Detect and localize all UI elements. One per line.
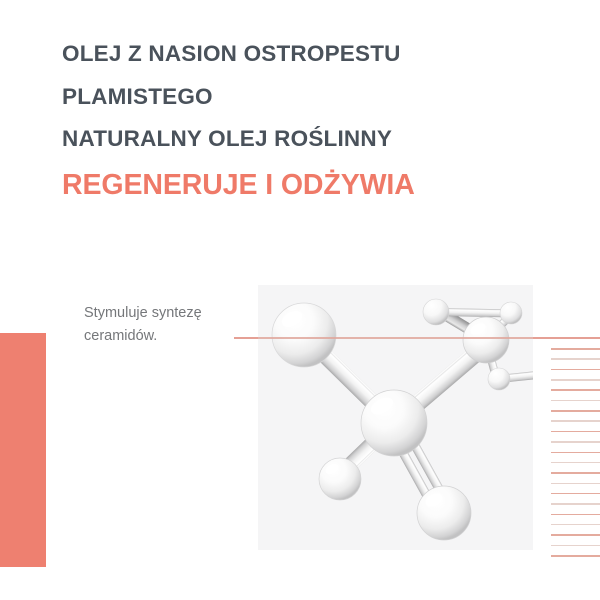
atom-right-small <box>488 368 510 390</box>
hatch-line <box>551 555 600 557</box>
headline-line-1: OLEJ Z NASION OSTROPESTU <box>62 33 532 76</box>
atom-lower-right-medium <box>417 486 471 540</box>
hatch-line <box>551 410 600 412</box>
poster-canvas: OLEJ Z NASION OSTROPESTU PLAMISTEGO NATU… <box>0 0 600 600</box>
hatch-line <box>551 431 600 433</box>
hatch-line <box>551 369 600 371</box>
hatch-line <box>551 534 600 536</box>
atom-center-large <box>361 390 427 456</box>
caption-block: Stymuluje syntezę ceramidów. <box>84 302 244 348</box>
hatch-line <box>551 379 600 381</box>
headline-line-2: PLAMISTEGO <box>62 76 532 119</box>
headline-block: OLEJ Z NASION OSTROPESTU PLAMISTEGO NATU… <box>62 33 532 209</box>
hatch-line <box>551 348 600 350</box>
hatch-line <box>551 452 600 454</box>
atom-upper-small-right <box>500 302 522 324</box>
hatch-line-group <box>551 348 600 563</box>
caption-line-2: ceramidów. <box>84 325 244 348</box>
headline-line-3: NATURALNY OLEJ ROŚLINNY <box>62 118 532 161</box>
molecule-illustration <box>258 285 533 550</box>
connector-rule-overlay <box>258 337 533 339</box>
molecule-atoms <box>272 299 522 540</box>
atom-upper-small-left <box>423 299 449 325</box>
hatch-line <box>551 524 600 526</box>
hatch-line <box>551 420 600 422</box>
hatch-line <box>551 389 600 391</box>
hatch-line <box>551 462 600 464</box>
hatch-line <box>551 400 600 402</box>
headline-line-4-accent: REGENERUJE I ODŻYWIA <box>62 161 532 209</box>
hatch-line <box>551 514 600 516</box>
caption-line-1: Stymuluje syntezę <box>84 302 244 325</box>
atom-upper-right-medium <box>463 317 509 363</box>
hatch-line <box>551 545 600 547</box>
atom-lower-left-medium <box>319 458 361 500</box>
hatch-line <box>551 358 600 360</box>
molecule-image-panel <box>258 285 533 550</box>
left-accent-bar <box>0 333 46 567</box>
hatch-line <box>551 503 600 505</box>
hatch-line <box>551 441 600 443</box>
hatch-line <box>551 493 600 495</box>
atom-large-upper-left <box>272 303 336 367</box>
hatch-line <box>551 483 600 485</box>
hatch-line <box>551 472 600 474</box>
